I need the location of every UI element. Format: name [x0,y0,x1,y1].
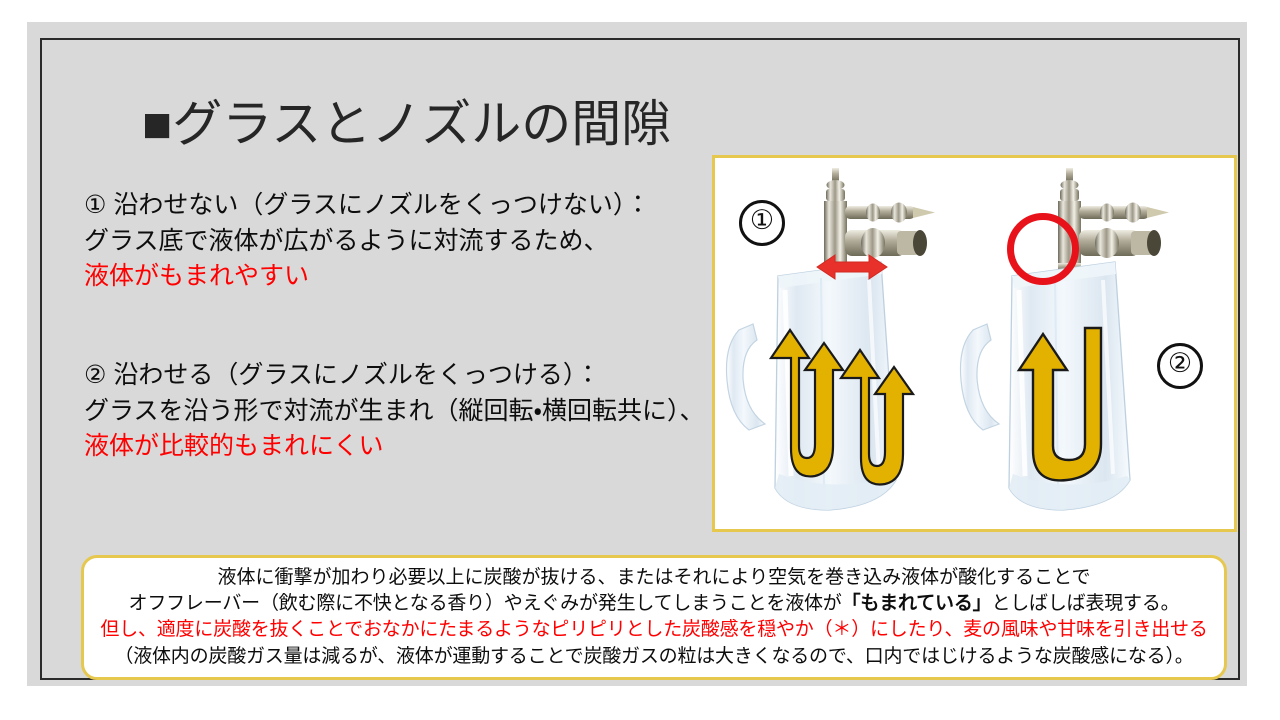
note-line-1: 液体に衝撃が加わり必要以上に炭酸が抜ける、またはそれにより空気を巻き込み液体が酸… [94,565,1214,591]
figure-panel: ① [712,155,1237,532]
slide-canvas: ■グラスとノズルの間隙 ① 沿わせない（グラスにノズルをくっつけない）： グラス… [27,22,1247,686]
note-callout-box: 液体に衝撃が加わり必要以上に炭酸が抜ける、またはそれにより空気を巻き込み液体が酸… [81,555,1227,680]
contact-point-highlight-circle-icon [1007,213,1079,285]
item-one-heading: ① 沿わせない（グラスにノズルをくっつけない）： [84,188,744,224]
item-one-conclusion: 液体がもまれやすい [84,259,744,295]
note-line-3: 但し、適度に炭酸を抜くことでおなかにたまるようなピリピリとした炭酸感を穏やか（＊… [94,617,1214,643]
note-line-2-pre: オフフレーバー（飲む際に不快となる香り）やえぐみが発生してしまうことを液体が [129,593,842,614]
note-line-2: オフフレーバー（飲む際に不快となる香り）やえぐみが発生してしまうことを液体が「も… [94,591,1214,617]
item-two-line2: グラスを沿う形で対流が生まれ（縦回転・横回転共に）、 [84,394,744,430]
page-title: ■グラスとノズルの間隙 [142,96,671,152]
section-item-one: ① 沿わせない（グラスにノズルをくっつけない）： グラス底で液体が広がるように対… [84,188,744,295]
section-item-two: ② 沿わせる（グラスにノズルをくっつける）： グラスを沿う形で対流が生まれ（縦回… [84,358,744,465]
figure-right-mug-group: ② [955,158,1205,529]
note-line-4: （液体内の炭酸ガス量は減るが、液体が運動することで炭酸ガスの粒は大きくなるので、… [94,644,1214,670]
figure-label-two: ② [1157,343,1203,389]
figure-left-mug-group: ① [721,158,971,529]
figure-label-one: ① [739,200,785,246]
gap-double-arrow-icon [815,250,889,289]
slide-frame: ■グラスとノズルの間隙 ① 沿わせない（グラスにノズルをくっつけない）： グラス… [40,38,1240,680]
item-one-line2: グラス底で液体が広がるように対流するため、 [84,224,744,260]
note-line-2-post: としばしば表現する。 [991,593,1179,614]
item-two-heading: ② 沿わせる（グラスにノズルをくっつける）： [84,358,744,394]
item-two-conclusion: 液体が比較的もまれにくい [84,429,744,465]
beer-mug-with-tap-touching-illustration [955,158,1205,529]
note-line-2-emphasis: 「もまれている」 [842,593,992,614]
